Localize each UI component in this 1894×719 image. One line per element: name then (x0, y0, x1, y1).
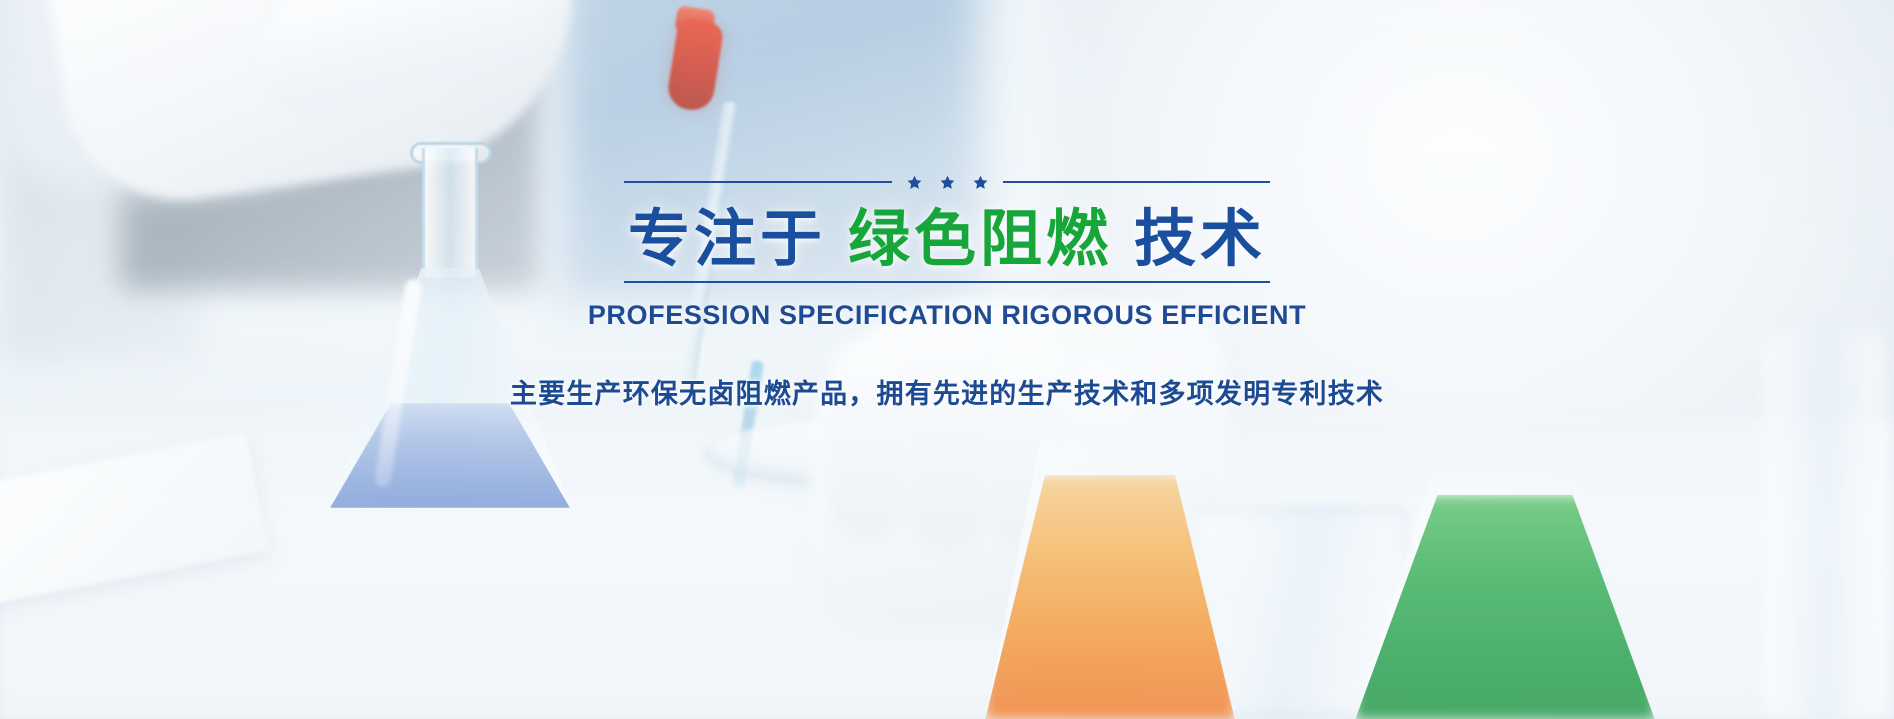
banner-content: 专注于绿色阻燃技术 PROFESSION SPECIFICATION RIGOR… (0, 0, 1894, 719)
description-text: 主要生产环保无卤阻燃产品，拥有先进的生产技术和多项发明专利技术 (510, 372, 1384, 411)
page-title: 专注于绿色阻燃技术 (628, 204, 1266, 273)
headline-part-1: 专注于 (628, 202, 826, 275)
hero-banner: 专注于绿色阻燃技术 PROFESSION SPECIFICATION RIGOR… (0, 0, 1894, 719)
headline-part-3: 技术 (1134, 202, 1266, 275)
subtitle: PROFESSION SPECIFICATION RIGOROUS EFFICI… (588, 300, 1306, 331)
star-group (892, 174, 1003, 191)
decorative-divider-bottom (624, 281, 1270, 283)
divider-line-right (1003, 181, 1271, 183)
star-icon (906, 174, 923, 191)
decorative-divider-top (624, 172, 1270, 192)
headline-part-2: 绿色阻燃 (848, 202, 1112, 275)
star-icon (939, 174, 956, 191)
star-icon (972, 174, 989, 191)
divider-line-left (624, 181, 892, 183)
